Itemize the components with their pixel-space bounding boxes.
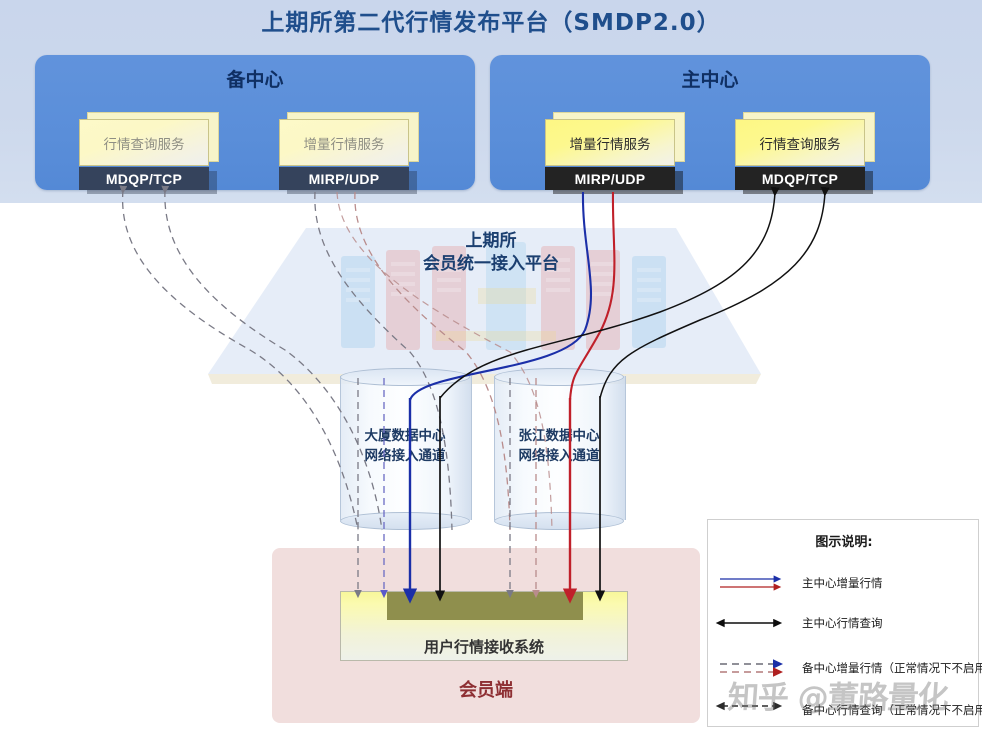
legend-label: 主中心行情查询	[802, 608, 883, 638]
legend-panel: 图示说明: 主中心增量行情	[707, 519, 979, 727]
legend-label: 主中心增量行情	[802, 568, 883, 598]
service-name: 行情查询服务	[79, 119, 209, 166]
service-name: 行情查询服务	[735, 119, 865, 166]
client-system-band	[387, 592, 583, 620]
cylinder-bottom	[340, 512, 470, 530]
legend-item-backup-query: 备中心行情查询（正常情况下不启用）	[718, 695, 976, 725]
channel-cylinder-zhangjiang[interactable]: 张江数据中心 网络接入通道	[494, 368, 624, 528]
backup-center-box[interactable]: 备中心 行情查询服务 MDQP/TCP 增量行情服务 MIRP/UDP	[35, 55, 475, 190]
backup-center-title: 备中心	[35, 65, 475, 92]
cylinder-bottom	[494, 512, 624, 530]
member-area-label: 会员端	[272, 676, 700, 702]
legend-item-main-query: 主中心行情查询	[718, 608, 976, 638]
service-protocol: MDQP/TCP	[735, 167, 865, 190]
legend-item-backup-incremental: 备中心增量行情（正常情况下不启用）	[718, 653, 976, 683]
main-center-box[interactable]: 主中心 增量行情服务 MIRP/UDP 行情查询服务 MDQP/TCP	[490, 55, 930, 190]
cylinder-top	[340, 368, 470, 386]
legend-label: 备中心行情查询（正常情况下不启用）	[802, 695, 982, 725]
legend-symbol-solid-double	[718, 568, 798, 598]
service-name: 增量行情服务	[279, 119, 409, 166]
legend-symbol-solid-bidirectional	[718, 608, 798, 638]
service-name: 增量行情服务	[545, 119, 675, 166]
service-protocol: MDQP/TCP	[79, 167, 209, 190]
legend-title: 图示说明:	[708, 531, 980, 550]
diagram-canvas: 上期所第二代行情发布平台（SMDP2.0） 备中心 行情查询服务 MDQP/TC…	[0, 0, 982, 731]
member-area[interactable]: 用户行情接收系统 会员端	[272, 548, 700, 723]
client-system-label: 用户行情接收系统	[340, 636, 628, 657]
legend-symbol-dashed-bidirectional	[718, 695, 798, 725]
service-protocol: MIRP/UDP	[545, 167, 675, 190]
cylinder-top	[494, 368, 624, 386]
channel-cylinder-dasha[interactable]: 大厦数据中心 网络接入通道	[340, 368, 470, 528]
service-protocol: MIRP/UDP	[279, 167, 409, 190]
legend-item-main-incremental: 主中心增量行情	[718, 568, 976, 598]
legend-symbol-dashed-double	[718, 653, 798, 683]
main-center-title: 主中心	[490, 65, 930, 92]
channel-label-zhangjiang: 张江数据中心 网络接入通道	[494, 426, 624, 467]
unified-access-platform: 上期所 会员统一接入平台	[186, 216, 796, 391]
page-title: 上期所第二代行情发布平台（SMDP2.0）	[0, 3, 982, 37]
legend-label: 备中心增量行情（正常情况下不启用）	[802, 653, 982, 683]
channel-label-dasha: 大厦数据中心 网络接入通道	[340, 426, 470, 467]
platform-label: 上期所 会员统一接入平台	[186, 230, 796, 276]
